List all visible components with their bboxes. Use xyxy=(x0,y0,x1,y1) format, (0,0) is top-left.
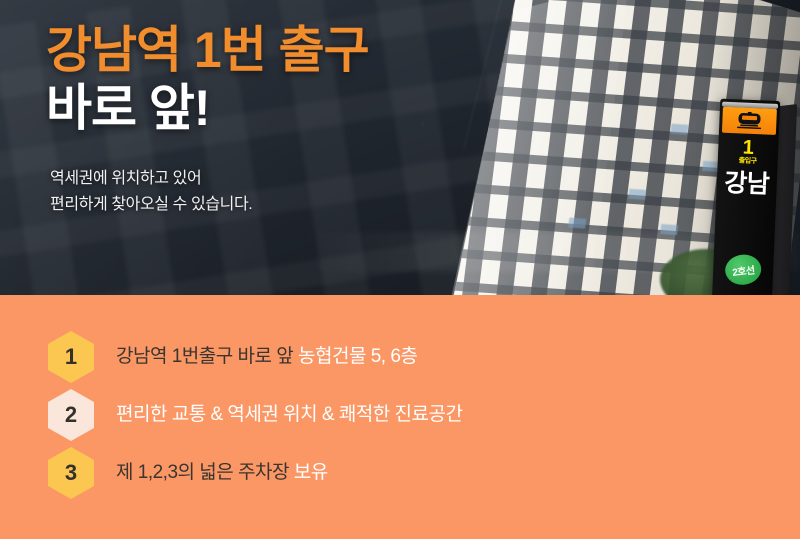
list-item-text-white: 농협건물 5, 6층 xyxy=(298,346,417,367)
list-badge-2: 2 xyxy=(48,389,94,441)
hero-copy-block: 강남역 1번 출구 바로 앞! 역세권에 위치하고 있어 편리하게 찾아오실 수… xyxy=(46,22,369,218)
sign-logo-panel xyxy=(722,107,777,135)
list-badge-1: 1 xyxy=(48,331,94,383)
sign-line-badge: 2호선 xyxy=(724,253,763,287)
sign-exit-number: 1 xyxy=(718,137,779,159)
list-item: 3 제 1,2,3의 넓은 주차장 보유 xyxy=(0,444,800,502)
list-item-text-white: 편리한 교통 & 역세권 위치 & 쾌적한 진료공간 xyxy=(116,404,462,425)
list-item-text-1: 강남역 1번출구 바로 앞 농협건물 5, 6층 xyxy=(116,346,417,369)
hero-headline-line1: 강남역 1번 출구 xyxy=(46,22,369,78)
metro-train-icon xyxy=(734,111,765,130)
subway-exit-sign: 1 출입구 강남 2호선 xyxy=(712,99,796,295)
window-glass-highlight xyxy=(670,124,688,135)
hero-banner: 1 출입구 강남 2호선 강남역 1번 출구 바로 앞! 역세권에 위치하고 있… xyxy=(0,0,800,295)
hero-subtext-line1: 역세권에 위치하고 있어 xyxy=(50,170,201,187)
info-panel: 1 강남역 1번출구 바로 앞 농협건물 5, 6층 2 편리한 교통 & 역세… xyxy=(0,295,800,539)
list-item-text-2: 편리한 교통 & 역세권 위치 & 쾌적한 진료공간 xyxy=(116,404,462,427)
list-item-text-white: 보유 xyxy=(294,462,328,483)
hero-subtext: 역세권에 위치하고 있어 편리하게 찾아오실 수 있습니다. xyxy=(50,166,369,218)
promo-page: 1 출입구 강남 2호선 강남역 1번 출구 바로 앞! 역세권에 위치하고 있… xyxy=(0,0,800,539)
hero-subtext-line2: 편리하게 찾아오실 수 있습니다. xyxy=(50,196,252,213)
hero-headline-line2: 바로 앞! xyxy=(46,80,369,136)
feature-list: 1 강남역 1번출구 바로 앞 농협건물 5, 6층 2 편리한 교통 & 역세… xyxy=(0,328,800,502)
window-glass-highlight xyxy=(628,189,646,200)
list-item-text-3: 제 1,2,3의 넓은 주차장 보유 xyxy=(116,462,328,485)
list-badge-3: 3 xyxy=(48,447,94,499)
window-glass-highlight xyxy=(568,218,586,229)
sign-body: 1 출입구 강남 2호선 xyxy=(712,99,780,295)
list-item-text-dark: 제 1,2,3의 넓은 주차장 xyxy=(116,462,294,483)
list-item-text-dark: 강남역 1번출구 바로 앞 xyxy=(116,346,298,367)
list-item: 2 편리한 교통 & 역세권 위치 & 쾌적한 진료공간 xyxy=(0,386,800,444)
sign-station-name: 강남 xyxy=(716,171,777,199)
sign-exit-label: 출입구 xyxy=(718,157,778,167)
list-item: 1 강남역 1번출구 바로 앞 농협건물 5, 6층 xyxy=(0,328,800,386)
